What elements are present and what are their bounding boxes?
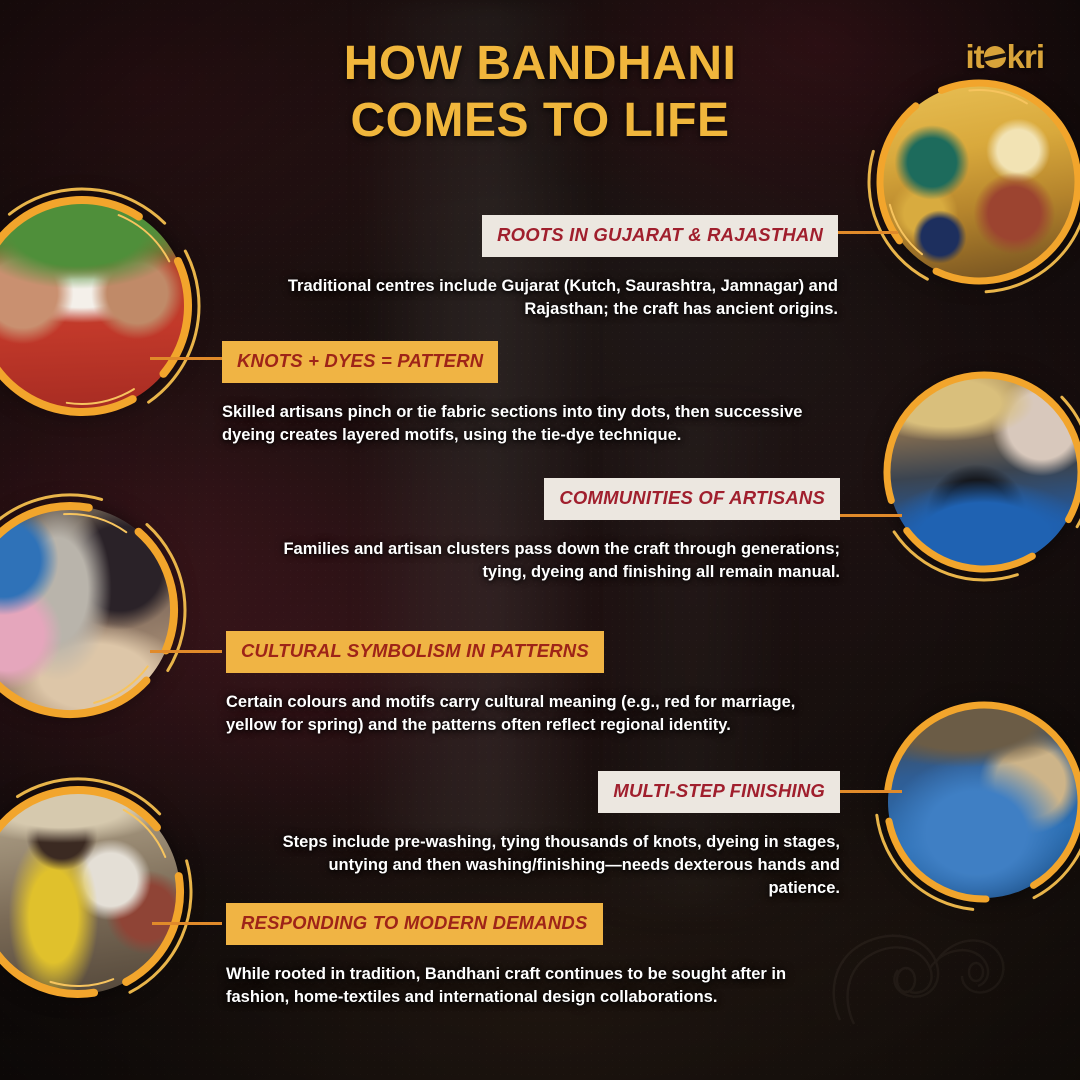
connector-line-1 bbox=[838, 231, 898, 234]
section-multi-step-finishing-heading: MULTI-STEP FINISHING bbox=[598, 771, 840, 813]
page-title: HOW BANDHANI COMES TO LIFE bbox=[0, 36, 1080, 149]
photo-content bbox=[0, 200, 188, 412]
section-communities-body: Families and artisan clusters pass down … bbox=[250, 538, 840, 585]
section-roots-heading: ROOTS IN GUJARAT & RAJASTHAN bbox=[482, 215, 838, 257]
photo-hands-tying-red-fabric bbox=[0, 200, 188, 412]
section-communities-heading: COMMUNITIES OF ARTISANS bbox=[544, 478, 840, 520]
section-communities: COMMUNITIES OF ARTISANS Families and art… bbox=[250, 478, 840, 584]
section-modern-demands-heading: RESPONDING TO MODERN DEMANDS bbox=[226, 903, 603, 945]
connector-line-2 bbox=[150, 357, 222, 360]
section-cultural-symbolism-heading: CULTURAL SYMBOLISM IN PATTERNS bbox=[226, 631, 604, 673]
connector-line-3 bbox=[840, 514, 902, 517]
page-title-line-1: HOW BANDHANI bbox=[0, 36, 1080, 93]
section-cultural-symbolism: CULTURAL SYMBOLISM IN PATTERNS Certain c… bbox=[226, 631, 826, 737]
section-knots-dyes-body: Skilled artisans pinch or tie fabric sec… bbox=[222, 401, 842, 448]
section-modern-demands-body: While rooted in tradition, Bandhani craf… bbox=[226, 963, 816, 1010]
section-knots-dyes-heading: KNOTS + DYES = PATTERN bbox=[222, 341, 498, 383]
page-title-line-2: COMES TO LIFE bbox=[0, 93, 1080, 150]
itokri-logo[interactable]: it kri bbox=[965, 40, 1044, 73]
logo-text-prefix: it bbox=[965, 40, 983, 73]
section-modern-demands: RESPONDING TO MODERN DEMANDS While roote… bbox=[226, 903, 816, 1009]
photo-women-knotting-cream-cloth bbox=[0, 506, 174, 714]
connector-line-5 bbox=[840, 790, 902, 793]
photo-content bbox=[888, 706, 1080, 898]
section-multi-step-finishing: MULTI-STEP FINISHING Steps include pre-w… bbox=[258, 771, 840, 901]
connector-line-4 bbox=[150, 650, 222, 653]
photo-content bbox=[0, 506, 174, 714]
photo-artisan-dyeing-blue-tub bbox=[888, 376, 1080, 568]
logo-circle-o-icon bbox=[984, 46, 1006, 68]
section-roots-body: Traditional centres include Gujarat (Kut… bbox=[260, 275, 838, 322]
photo-artisan-lifting-yellow-cloth bbox=[0, 790, 180, 994]
photo-content bbox=[888, 376, 1080, 568]
section-roots: ROOTS IN GUJARAT & RAJASTHAN Traditional… bbox=[260, 215, 838, 321]
photo-indigo-dye-vat bbox=[888, 706, 1080, 898]
connector-line-6 bbox=[152, 922, 222, 925]
photo-content bbox=[0, 790, 180, 994]
section-knots-dyes: KNOTS + DYES = PATTERN Skilled artisans … bbox=[222, 341, 842, 447]
logo-text-suffix: kri bbox=[1007, 40, 1044, 73]
section-multi-step-finishing-body: Steps include pre-washing, tying thousan… bbox=[258, 831, 840, 901]
section-cultural-symbolism-body: Certain colours and motifs carry cultura… bbox=[226, 691, 826, 738]
